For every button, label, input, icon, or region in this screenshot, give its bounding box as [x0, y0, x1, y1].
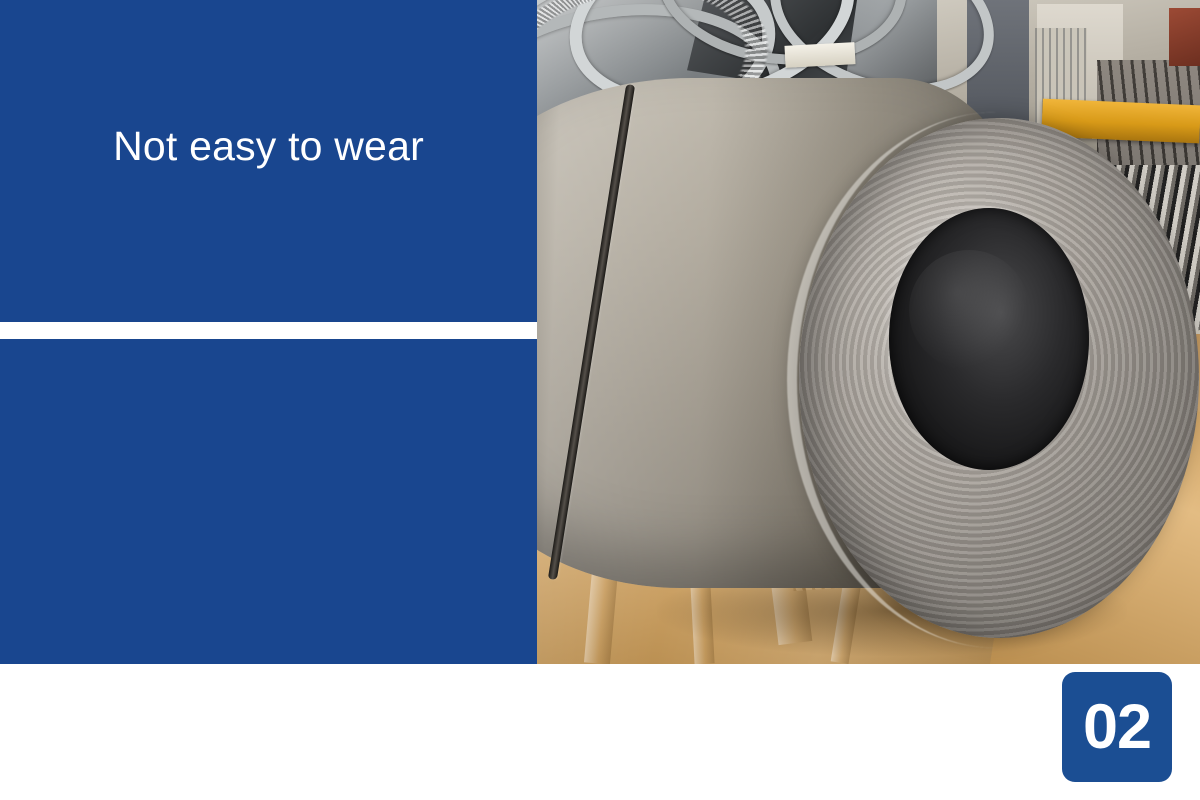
page-title: Not easy to wear: [0, 124, 537, 169]
steel-coil-bore-highlight: [909, 250, 1029, 370]
description-text: High plasticity, toughness and mechanica…: [40, 771, 497, 800]
step-number-badge: 02: [1062, 672, 1172, 782]
footer-bar: GOOD PRODUCT PERFORMANCE Stable performa…: [537, 664, 1200, 800]
description-panel: High plasticity, toughness and mechanica…: [0, 339, 537, 664]
slide-canvas: Not easy to wear High plasticity, toughn…: [0, 0, 1200, 800]
product-photo: [537, 0, 1200, 664]
red-equipment: [1169, 8, 1200, 66]
headline-panel: Not easy to wear: [0, 0, 537, 322]
coil-label-tag: [784, 42, 855, 68]
